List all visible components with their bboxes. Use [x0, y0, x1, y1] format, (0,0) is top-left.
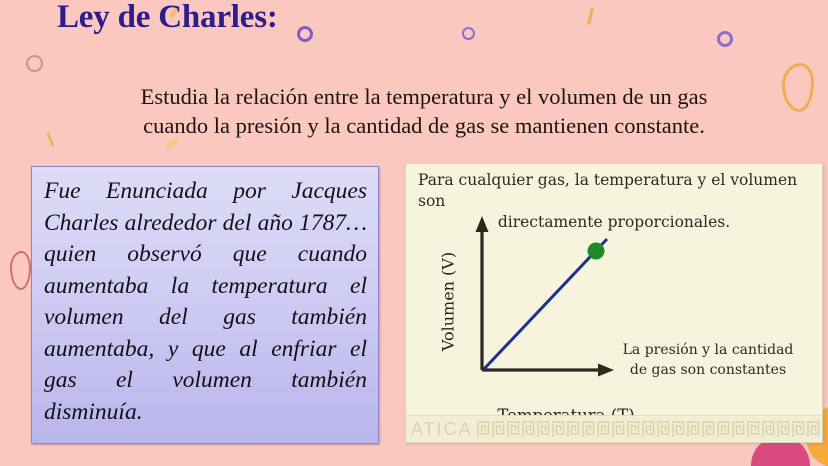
- chart-annotation-line-2: de gas son constantes: [630, 362, 786, 378]
- decor-blob-red-icon: [10, 251, 31, 290]
- subtitle-line-1: Estudia la relación entre la temperatura…: [141, 84, 708, 109]
- decor-ring-pink-icon: [26, 55, 43, 72]
- y-axis-arrowhead: [476, 216, 489, 232]
- illustration-panel: Para cualquier gas, la temperatura y el …: [405, 163, 823, 443]
- chart-plot-area: Volumen (V) Temperatura (T) La presión y…: [406, 212, 822, 394]
- page-subtitle: Estudia la relación entre la temperatura…: [78, 82, 770, 140]
- decor-tick-icon: [46, 132, 54, 147]
- y-axis-label: Volumen (V): [439, 242, 458, 362]
- page-title: Ley de Charles:: [57, 0, 357, 36]
- chart-annotation-line-1: La presión y la cantidad: [623, 342, 794, 358]
- ornamental-band: ATICA: [406, 415, 822, 442]
- chart-annotation: La presión y la cantidad de gas son cons…: [610, 340, 806, 380]
- slide-canvas: Ley de Charles: Estudia la relación entr…: [0, 0, 828, 466]
- decor-tick-icon: [587, 8, 594, 25]
- greek-key-pattern-icon: [476, 418, 820, 440]
- decor-blob-orange-icon: [782, 63, 814, 112]
- subtitle-line-2: cuando la presión y la cantidad de gas s…: [78, 111, 770, 140]
- quote-panel: Fue Enunciada por Jacques Charles alrede…: [31, 166, 379, 444]
- chart-data-point: [588, 243, 605, 260]
- band-text: ATICA: [411, 419, 473, 440]
- decor-ring-purple-icon: [462, 27, 475, 40]
- quote-text: Fue Enunciada por Jacques Charles alrede…: [44, 176, 367, 428]
- chart-series-line: [484, 239, 607, 369]
- chart-title-line-1: Para cualquier gas, la temperatura y el …: [414, 170, 814, 212]
- decor-ring-purple-icon: [717, 31, 733, 47]
